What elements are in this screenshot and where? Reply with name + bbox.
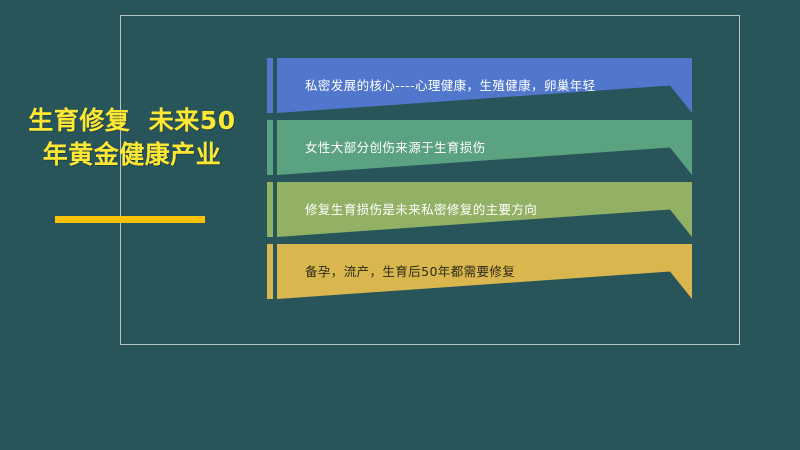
- banner-body-3[interactable]: 修复生育损伤是未来私密修复的主要方向: [277, 182, 692, 237]
- slide-canvas: 生育修复 未来50年黄金健康产业 私密发展的核心----心理健康，生殖健康，卵巢…: [0, 0, 800, 450]
- banner-item-4[interactable]: 备孕，流产，生育后50年都需要修复: [267, 244, 707, 299]
- banner-label-2: 女性大部分创伤来源于生育损伤: [305, 140, 486, 155]
- title-underline: [55, 216, 205, 223]
- banner-item-1[interactable]: 私密发展的核心----心理健康，生殖健康，卵巢年轻: [267, 58, 707, 113]
- banner-accent-tab-1: [267, 58, 273, 113]
- title-block: 生育修复 未来50年黄金健康产业: [24, 104, 240, 171]
- banner-label-3: 修复生育损伤是未来私密修复的主要方向: [305, 202, 537, 217]
- banner-accent-tab-4: [267, 244, 273, 299]
- banner-list: 私密发展的核心----心理健康，生殖健康，卵巢年轻 女性大部分创伤来源于生育损伤…: [267, 58, 707, 306]
- banner-label-4: 备孕，流产，生育后50年都需要修复: [305, 264, 515, 279]
- banner-body-1[interactable]: 私密发展的核心----心理健康，生殖健康，卵巢年轻: [277, 58, 692, 113]
- banner-body-2[interactable]: 女性大部分创伤来源于生育损伤: [277, 120, 692, 175]
- banner-accent-tab-2: [267, 120, 273, 175]
- banner-accent-tab-3: [267, 182, 273, 237]
- banner-body-4[interactable]: 备孕，流产，生育后50年都需要修复: [277, 244, 692, 299]
- banner-item-2[interactable]: 女性大部分创伤来源于生育损伤: [267, 120, 707, 175]
- page-title: 生育修复 未来50年黄金健康产业: [24, 104, 240, 171]
- banner-label-1: 私密发展的核心----心理健康，生殖健康，卵巢年轻: [305, 78, 596, 93]
- banner-item-3[interactable]: 修复生育损伤是未来私密修复的主要方向: [267, 182, 707, 237]
